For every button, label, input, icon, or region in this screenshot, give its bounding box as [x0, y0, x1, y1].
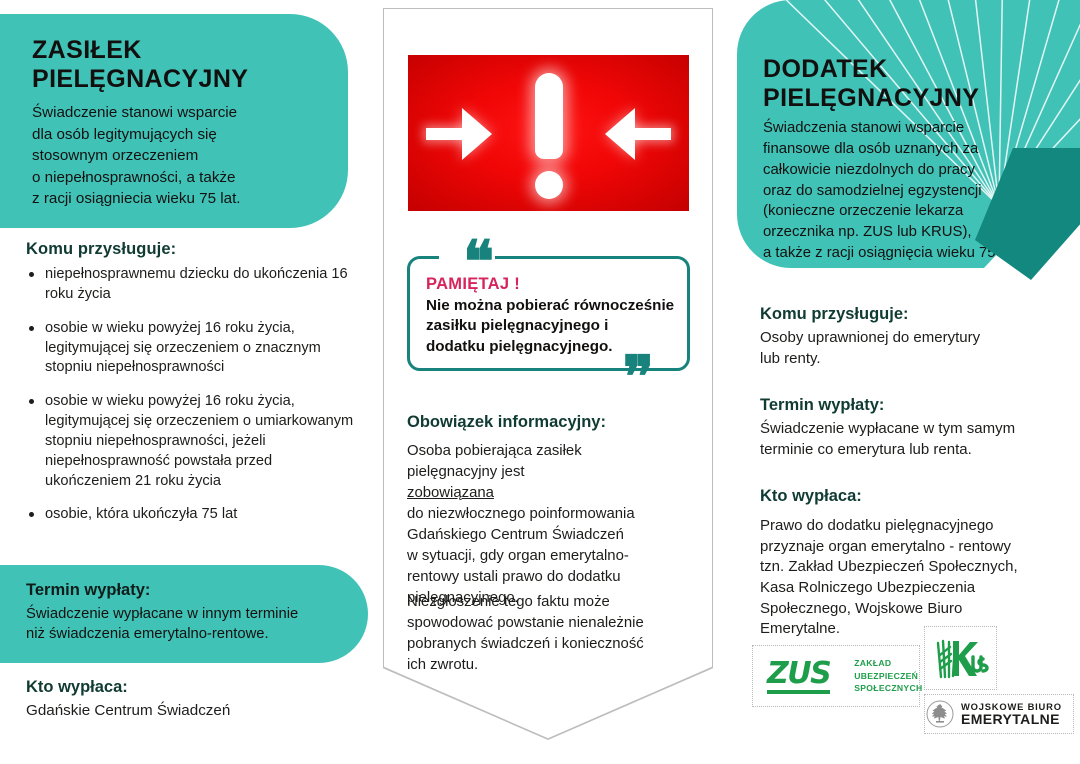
arrow-right-pointing-icon [426, 117, 500, 151]
right-payer-text: Prawo do dodatku pielęgnacyjnego przyzna… [760, 516, 1070, 640]
left-payer-section: Kto wypłaca: Gdańskie Centrum Świadczeń [26, 678, 356, 722]
eagle-emblem-icon [925, 699, 955, 729]
left-eligibility-list: niepełnosprawnemu dziecku do ukończenia … [26, 265, 356, 525]
center-column: ❝ ❞ PAMIĘTAJ ! Nie można pobierać równoc… [383, 8, 713, 740]
right-hero-card: DODATEK PIELĘGNACYJNY Świadczenia stanow… [737, 0, 1080, 268]
left-title-line-1: ZASIŁEK [32, 36, 322, 65]
krus-logo-icon [933, 635, 989, 681]
right-payer-section: Kto wypłaca: Prawo do dodatku pielęgnacy… [760, 487, 1070, 640]
right-payment-section: Termin wypłaty: Świadczenie wypłacane w … [760, 396, 1070, 460]
quote-close-icon: ❞ [623, 349, 654, 407]
duty-line-with-underline: pielęgnacyjny jest zobowiązana [407, 462, 697, 504]
left-payment-heading: Termin wypłaty: [26, 581, 338, 600]
arrow-left-pointing-icon [597, 117, 671, 151]
right-eligibility-text: Osoby uprawnionej do emerytury lub renty… [760, 328, 1070, 369]
list-item: osobie w wieku powyżej 16 roku życia, le… [26, 392, 356, 491]
right-hero-title: DODATEK PIELĘGNACYJNY [763, 55, 1064, 113]
center-duty-heading: Obowiązek informacyjny: [407, 413, 697, 432]
left-hero-title: ZASIŁEK PIELĘGNACYJNY [32, 36, 322, 94]
remember-badge: PAMIĘTAJ ! [426, 275, 678, 294]
wojskowe-biuro-emerytalne-logo: WOJSKOWE BIURO EMERYTALNE [924, 694, 1074, 734]
list-item: osobie, która ukończyła 75 lat [26, 505, 356, 525]
left-payment-band: Termin wypłaty: Świadczenie wypłacane w … [0, 565, 368, 663]
center-content: ❝ ❞ PAMIĘTAJ ! Nie można pobierać równoc… [383, 8, 713, 740]
right-payment-text: Świadczenie wypłacane w tym samym termin… [760, 419, 1070, 460]
wbe-line-2: EMERYTALNE [961, 712, 1062, 727]
center-consequence-text: Niezgłoszenie tego faktu może spowodować… [407, 592, 697, 676]
krus-logo [924, 626, 997, 690]
right-title-line-2: PIELĘGNACYJNY [763, 84, 1064, 113]
right-payer-heading: Kto wypłaca: [760, 487, 1070, 506]
left-hero-description: Świadczenie stanowi wsparcie dla osób le… [32, 102, 322, 210]
right-payment-heading: Termin wypłaty: [760, 396, 1070, 415]
center-consequence-section: Niezgłoszenie tego faktu może spowodować… [407, 592, 697, 676]
center-duty-section: Obowiązek informacyjny: Osoba pobierając… [407, 413, 697, 609]
left-eligibility-section: Komu przysługuje: niepełnosprawnemu dzie… [26, 240, 356, 539]
right-hero-description: Świadczenia stanowi wsparcie finansowe d… [763, 118, 1072, 264]
warning-exclamation-icon [408, 55, 689, 211]
brochure-page: ZASIŁEK PIELĘGNACYJNY Świadczenie stanow… [0, 0, 1080, 764]
list-item: niepełnosprawnemu dziecku do ukończenia … [26, 265, 356, 305]
left-hero-card: ZASIŁEK PIELĘGNACYJNY Świadczenie stanow… [0, 14, 348, 228]
left-payer-heading: Kto wypłaca: [26, 678, 356, 697]
left-column: ZASIŁEK PIELĘGNACYJNY Świadczenie stanow… [0, 0, 372, 764]
left-eligibility-heading: Komu przysługuje: [26, 240, 356, 259]
zus-wordmark: ZUS [767, 659, 830, 694]
center-duty-text: Osoba pobierająca zasiłek pielęgnacyjny … [407, 441, 697, 609]
left-title-line-2: PIELĘGNACYJNY [32, 65, 322, 94]
right-eligibility-section: Komu przysługuje: Osoby uprawnionej do e… [760, 305, 1070, 369]
zus-logo-subtitle: ZAKŁAD UBEZPIECZEŃ SPOŁECZNYCH [854, 657, 922, 694]
list-item: osobie w wieku powyżej 16 roku życia, le… [26, 319, 356, 379]
remember-quote-box: ❝ ❞ PAMIĘTAJ ! Nie można pobierać równoc… [407, 248, 690, 363]
left-payer-text: Gdańskie Centrum Świadczeń [26, 701, 356, 722]
zus-logo: ZUS ZAKŁAD UBEZPIECZEŃ SPOŁECZNYCH [752, 645, 920, 707]
duty-underlined-word: zobowiązana [407, 483, 697, 504]
right-title-line-1: DODATEK [763, 55, 1064, 84]
right-eligibility-heading: Komu przysługuje: [760, 305, 1070, 324]
remember-text: Nie można pobierać równocześnie zasiłku … [426, 296, 678, 357]
right-column: DODATEK PIELĘGNACYJNY Świadczenia stanow… [737, 0, 1080, 764]
left-payment-text: Świadczenie wypłacane w innym terminie n… [26, 604, 338, 644]
